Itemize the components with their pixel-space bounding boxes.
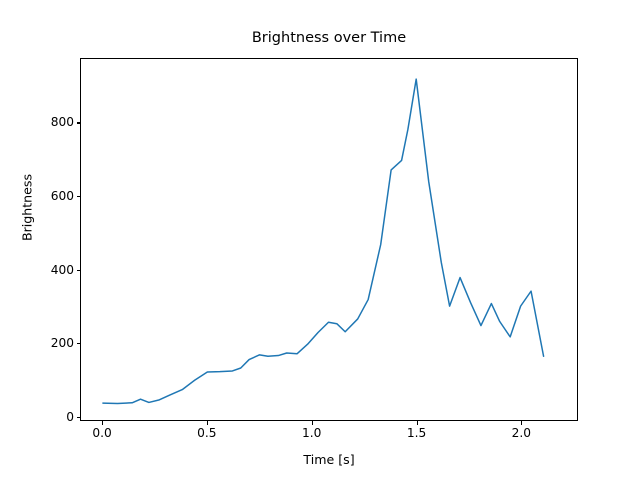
x-tick-mark	[417, 421, 418, 425]
y-tick-mark	[77, 270, 81, 271]
y-tick-mark	[77, 122, 81, 123]
y-tick-mark	[77, 417, 81, 418]
x-tick-label: 0.5	[177, 426, 237, 440]
x-tick-mark	[312, 421, 313, 425]
chart-title: Brightness over Time	[80, 30, 578, 46]
y-tick-label: 600	[28, 189, 74, 203]
y-axis-label: Brightness	[20, 148, 35, 268]
y-tick-label: 200	[28, 336, 74, 350]
plot-axes-area	[80, 58, 578, 421]
x-tick-label: 1.5	[387, 426, 447, 440]
y-tick-mark	[77, 343, 81, 344]
x-axis-label: Time [s]	[80, 452, 578, 467]
y-tick-label: 400	[28, 263, 74, 277]
x-tick-mark	[207, 421, 208, 425]
x-tick-mark	[521, 421, 522, 425]
x-tick-mark	[102, 421, 103, 425]
x-tick-label: 0.0	[72, 426, 132, 440]
brightness-line-series	[103, 79, 544, 403]
x-tick-label: 1.0	[282, 426, 342, 440]
y-tick-label: 0	[28, 410, 74, 424]
data-line-svg	[81, 59, 577, 420]
y-axis-tick-marks	[77, 58, 81, 421]
y-tick-mark	[77, 196, 81, 197]
x-axis-tick-labels: 0.00.51.01.52.0	[80, 426, 578, 446]
y-tick-label: 800	[28, 115, 74, 129]
x-tick-label: 2.0	[491, 426, 551, 440]
matplotlib-figure: Brightness over Time 0200400600800 0.00.…	[0, 0, 640, 480]
x-axis-tick-marks	[80, 421, 578, 425]
